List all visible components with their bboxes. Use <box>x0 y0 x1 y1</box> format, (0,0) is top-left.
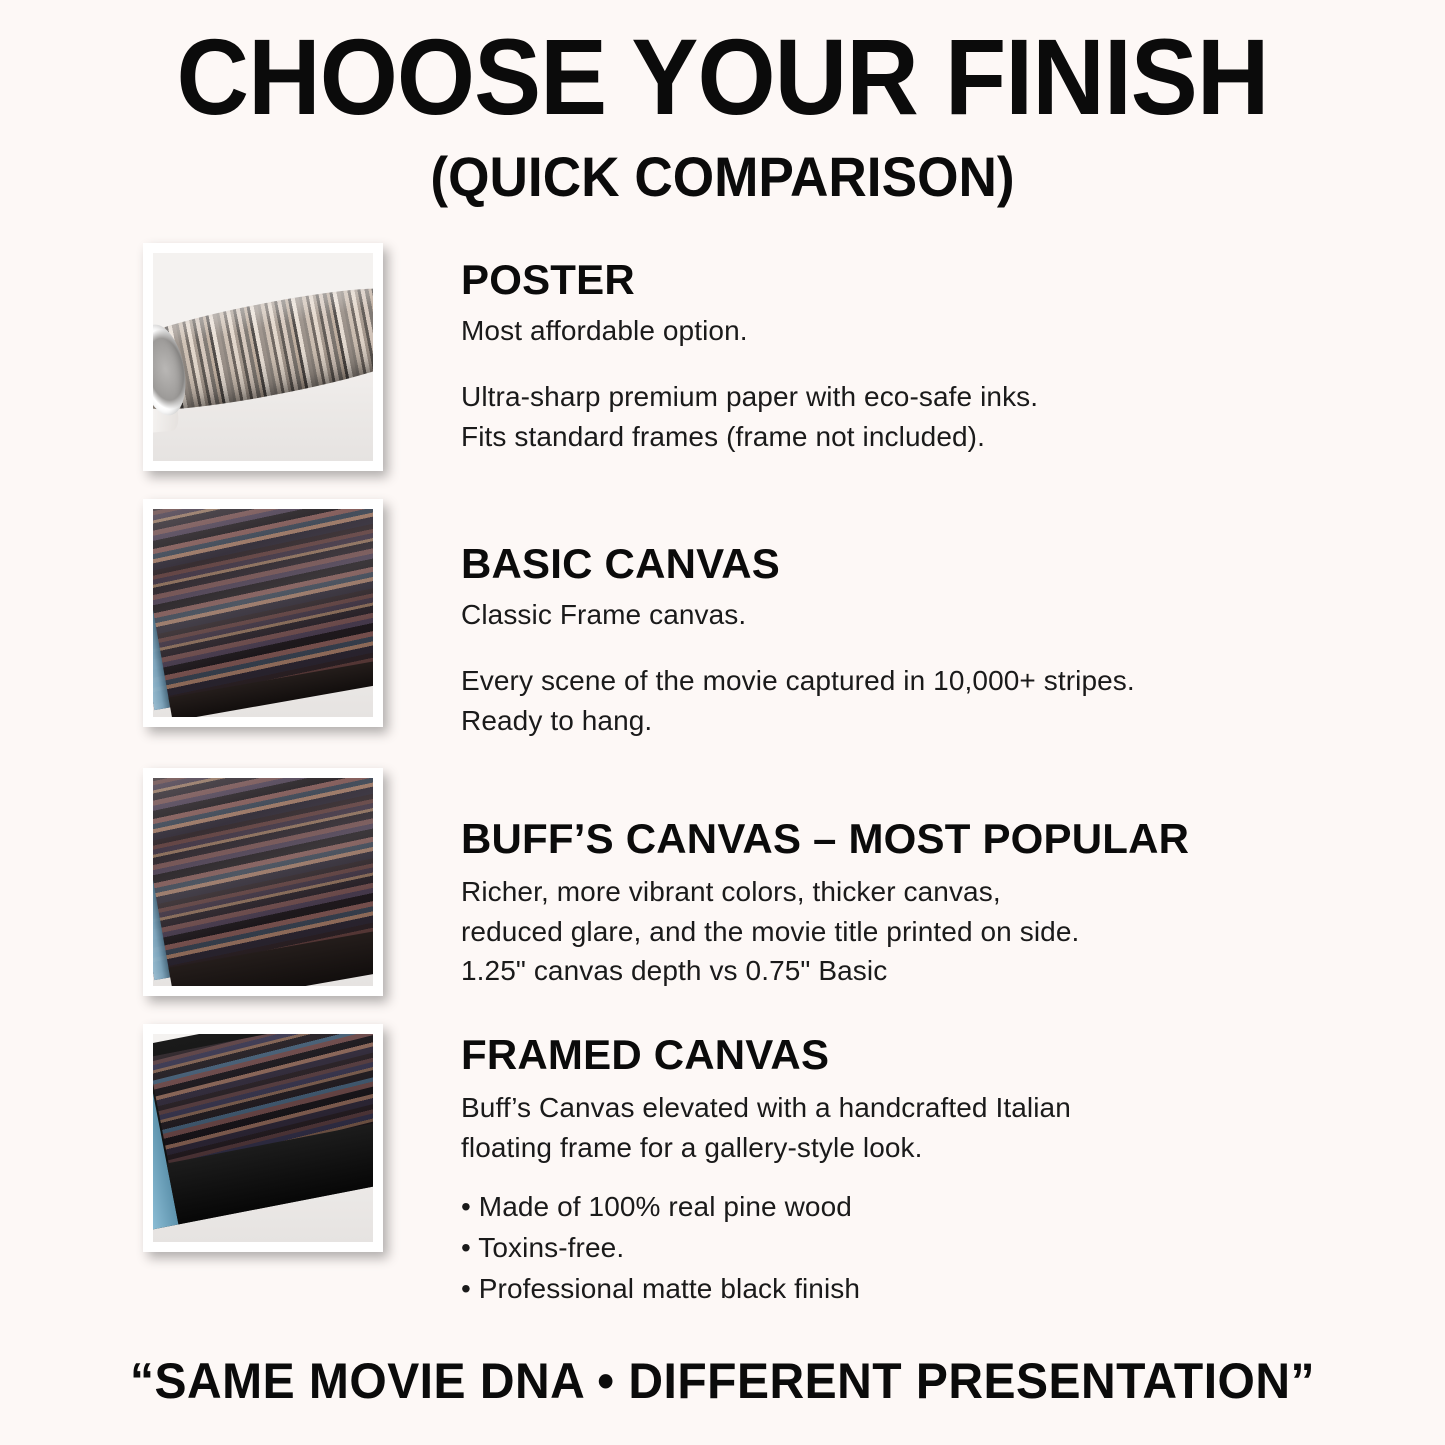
poster-detail-line-2: Fits standard frames (frame not included… <box>461 417 1385 457</box>
buffs-canvas-thumbnail-card <box>143 768 383 996</box>
framed-canvas-detail-line-1: Buff’s Canvas elevated with a handcrafte… <box>461 1088 1385 1128</box>
framed-canvas-bullet-list: • Made of 100% real pine wood • Toxins-f… <box>461 1187 1385 1310</box>
poster-title: POSTER <box>461 257 1385 302</box>
finish-option-poster: POSTER Most affordable option. Ultra-sha… <box>143 243 1385 471</box>
basic-canvas-detail-line-2: Ready to hang. <box>461 701 1385 741</box>
infographic-page: CHOOSE YOUR FINISH (QUICK COMPARISON) PO… <box>0 0 1445 1445</box>
framed-canvas-corner-photo <box>153 1034 373 1242</box>
basic-canvas-lede: Classic Frame canvas. <box>461 596 1385 635</box>
footer: “SAME MOVIE DNA • DIFFERENT PRESENTATION… <box>0 1340 1445 1445</box>
basic-canvas-corner-photo <box>153 509 373 717</box>
framed-canvas-title: FRAMED CANVAS <box>461 1032 1385 1077</box>
poster-thumbnail-card <box>143 243 383 471</box>
poster-detail: Ultra-sharp premium paper with eco-safe … <box>461 377 1385 457</box>
poster-detail-line-1: Ultra-sharp premium paper with eco-safe … <box>461 377 1385 417</box>
framed-canvas-thumbnail-card <box>143 1024 383 1252</box>
framed-canvas-text-column: FRAMED CANVAS Buff’s Canvas elevated wit… <box>383 1024 1385 1309</box>
list-item: • Made of 100% real pine wood <box>461 1187 1385 1228</box>
list-item: • Professional matte black finish <box>461 1269 1385 1310</box>
buffs-canvas-detail: Richer, more vibrant colors, thicker can… <box>461 872 1385 991</box>
header: CHOOSE YOUR FINISH (QUICK COMPARISON) <box>0 0 1445 207</box>
framed-canvas-detail: Buff’s Canvas elevated with a handcrafte… <box>461 1088 1385 1168</box>
list-item: • Toxins-free. <box>461 1228 1385 1269</box>
buffs-canvas-title: BUFF’S CANVAS – MOST POPULAR <box>461 816 1385 861</box>
basic-canvas-title: BASIC CANVAS <box>461 541 1385 586</box>
buffs-canvas-detail-line-1: Richer, more vibrant colors, thicker can… <box>461 872 1385 912</box>
finish-option-basic-canvas: BASIC CANVAS Classic Frame canvas. Every… <box>143 499 1385 740</box>
buffs-canvas-detail-line-3: 1.25" canvas depth vs 0.75" Basic <box>461 951 1385 991</box>
rolled-poster-photo <box>153 253 373 461</box>
page-subtitle: (QUICK COMPARISON) <box>36 148 1409 207</box>
finish-option-buffs-canvas: BUFF’S CANVAS – MOST POPULAR Richer, mor… <box>143 768 1385 996</box>
buffs-canvas-detail-line-2: reduced glare, and the movie title print… <box>461 912 1385 952</box>
buffs-canvas-text-column: BUFF’S CANVAS – MOST POPULAR Richer, mor… <box>383 768 1385 991</box>
basic-canvas-detail-line-1: Every scene of the movie captured in 10,… <box>461 661 1385 701</box>
finish-option-framed-canvas: FRAMED CANVAS Buff’s Canvas elevated wit… <box>143 1024 1385 1309</box>
footer-tagline: “SAME MOVIE DNA • DIFFERENT PRESENTATION… <box>29 1354 1416 1409</box>
page-title: CHOOSE YOUR FINISH <box>51 22 1395 132</box>
basic-canvas-graphic <box>153 509 373 710</box>
poster-lede: Most affordable option. <box>461 312 1385 351</box>
basic-canvas-detail: Every scene of the movie captured in 10,… <box>461 661 1385 741</box>
buffs-canvas-corner-photo <box>153 778 373 986</box>
framed-canvas-detail-line-2: floating frame for a gallery-style look. <box>461 1128 1385 1168</box>
basic-canvas-text-column: BASIC CANVAS Classic Frame canvas. Every… <box>383 499 1385 740</box>
buffs-canvas-graphic <box>153 778 373 979</box>
poster-text-column: POSTER Most affordable option. Ultra-sha… <box>383 243 1385 456</box>
finish-options-list: POSTER Most affordable option. Ultra-sha… <box>0 243 1445 1340</box>
basic-canvas-thumbnail-card <box>143 499 383 727</box>
